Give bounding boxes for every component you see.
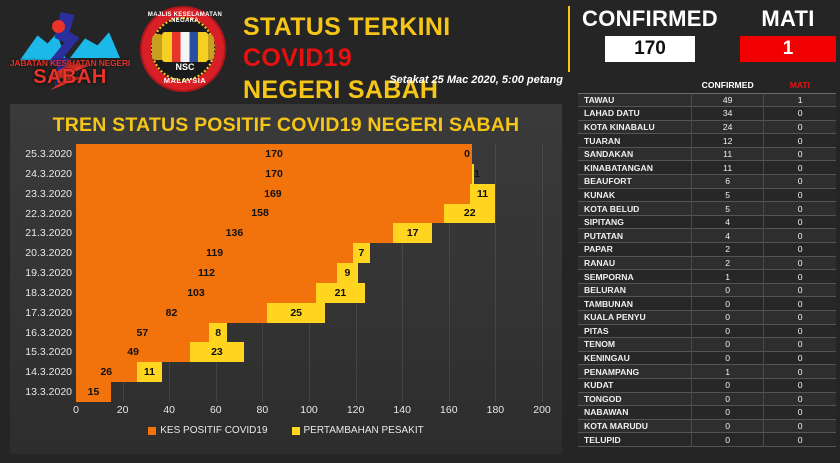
head-dot-icon xyxy=(52,20,65,33)
bar-segment-positive: 103 xyxy=(76,283,316,303)
confirmed-count: 0 xyxy=(692,297,764,311)
district-name: LAHAD DATU xyxy=(578,107,692,121)
table-row: KUNAK50 xyxy=(578,188,836,202)
district-name: NABAWAN xyxy=(578,406,692,420)
mati-count: 0 xyxy=(764,324,836,338)
district-name: KUNAK xyxy=(578,188,692,202)
chart-bar-row: 1701 xyxy=(76,164,542,184)
confirmed-count: 0 xyxy=(692,351,764,365)
chart-bar-row: 15 xyxy=(76,382,542,402)
bar-value-label: 0 xyxy=(464,148,470,160)
bar-value-label: 1 xyxy=(474,168,480,180)
bar-value-label: 17 xyxy=(407,227,419,239)
table-row: TONGOD00 xyxy=(578,392,836,406)
malaysia-crest-icon xyxy=(162,32,208,62)
chart-title: TREN STATUS POSITIF COVID19 NEGERI SABAH xyxy=(10,114,562,137)
mkn-logo-center-text: NSC xyxy=(142,62,228,72)
table-header-mati: MATI xyxy=(764,78,836,93)
confirmed-count: 5 xyxy=(692,202,764,216)
district-name: TELUPID xyxy=(578,433,692,447)
bar-value-label: 82 xyxy=(166,307,178,319)
bar-value-label: 23 xyxy=(211,346,223,358)
district-name: KOTA MARUDU xyxy=(578,419,692,433)
bar-segment-positive: 26 xyxy=(76,362,137,382)
mati-count: 0 xyxy=(764,419,836,433)
chart-bar-row: 1197 xyxy=(76,243,542,263)
chart-y-label: 13.3.2020 xyxy=(14,386,72,398)
chart-bar-row: 16911 xyxy=(76,184,542,204)
table-row: KOTA BELUD50 xyxy=(578,202,836,216)
confirmed-count: 0 xyxy=(692,324,764,338)
mountain-icon-2 xyxy=(70,30,120,58)
chart-x-tick: 160 xyxy=(440,404,458,416)
chart-x-tick: 100 xyxy=(300,404,318,416)
chart-x-tick: 200 xyxy=(533,404,551,416)
chart-y-label: 24.3.2020 xyxy=(14,168,72,180)
chart-x-tick: 140 xyxy=(393,404,411,416)
bar-segment-increase: 21 xyxy=(316,283,365,303)
district-name: KUDAT xyxy=(578,378,692,392)
district-name: PENAMPANG xyxy=(578,365,692,379)
confirmed-count: 6 xyxy=(692,175,764,189)
confirmed-count: 34 xyxy=(692,107,764,121)
confirmed-count: 0 xyxy=(692,283,764,297)
jkns-logo-line2: SABAH xyxy=(8,66,132,89)
chart-x-tick: 180 xyxy=(487,404,505,416)
table-row: KUALA PENYU00 xyxy=(578,311,836,325)
bar-segment-positive: 15 xyxy=(76,382,111,402)
bar-value-label: 136 xyxy=(226,227,244,239)
chart-y-label: 17.3.2020 xyxy=(14,307,72,319)
confirmed-count: 0 xyxy=(692,392,764,406)
stat-mati-label: MATI xyxy=(740,6,836,32)
table-row: LAHAD DATU340 xyxy=(578,107,836,121)
mati-count: 0 xyxy=(764,378,836,392)
bar-segment-increase: 11 xyxy=(137,362,163,382)
table-row: TENOM00 xyxy=(578,338,836,352)
mkn-logo-arc-text: MAJLIS KESELAMATAN NEGARA xyxy=(142,12,228,24)
table-row: KINABATANGAN110 xyxy=(578,161,836,175)
table-row: PUTATAN40 xyxy=(578,229,836,243)
mati-count: 0 xyxy=(764,365,836,379)
title-line1-red: COVID19 xyxy=(243,44,352,72)
legend-label: PERTAMBAHAN PESAKIT xyxy=(304,425,424,436)
bar-segment-positive: 169 xyxy=(76,184,470,204)
table-row: PAPAR20 xyxy=(578,243,836,257)
chart-bar-row: 15822 xyxy=(76,204,542,224)
mati-count: 0 xyxy=(764,188,836,202)
mati-count: 0 xyxy=(764,433,836,447)
confirmed-count: 4 xyxy=(692,215,764,229)
bar-segment-positive: 49 xyxy=(76,342,190,362)
table-row: NABAWAN00 xyxy=(578,406,836,420)
bar-value-label: 15 xyxy=(88,386,100,398)
bar-value-label: 11 xyxy=(144,366,155,378)
bar-value-label: 103 xyxy=(187,287,205,299)
confirmed-count: 0 xyxy=(692,338,764,352)
as-of-date: Setakat 25 Mac 2020, 5:00 petang xyxy=(243,74,563,86)
legend-item[interactable]: PERTAMBAHAN PESAKIT xyxy=(292,425,424,436)
mati-count: 0 xyxy=(764,107,836,121)
bar-segment-positive: 170 xyxy=(76,164,472,184)
confirmed-count: 12 xyxy=(692,134,764,148)
chart-y-label: 14.3.2020 xyxy=(14,366,72,378)
table-row: KOTA MARUDU00 xyxy=(578,419,836,433)
table-row: TUARAN120 xyxy=(578,134,836,148)
district-name: KENINGAU xyxy=(578,351,692,365)
district-name: SANDAKAN xyxy=(578,147,692,161)
mati-count: 0 xyxy=(764,202,836,216)
table-header-confirmed: CONFIRMED xyxy=(692,78,764,93)
legend-swatch-icon xyxy=(148,427,156,435)
chart-bar-row: 13617 xyxy=(76,223,542,243)
chart-y-label: 15.3.2020 xyxy=(14,346,72,358)
table-row: RANAU20 xyxy=(578,256,836,270)
mati-count: 0 xyxy=(764,256,836,270)
district-name: TUARAN xyxy=(578,134,692,148)
district-name: KINABATANGAN xyxy=(578,161,692,175)
bar-segment-increase: 8 xyxy=(209,323,228,343)
bar-value-label: 8 xyxy=(215,327,221,339)
bar-segment-positive: 82 xyxy=(76,303,267,323)
chart-x-tick: 0 xyxy=(73,404,79,416)
mati-count: 0 xyxy=(764,297,836,311)
bar-segment-increase: 17 xyxy=(393,223,433,243)
district-name: TONGOD xyxy=(578,392,692,406)
table-row: SIPITANG40 xyxy=(578,215,836,229)
bar-value-label: 112 xyxy=(198,267,215,279)
district-name: KOTA BELUD xyxy=(578,202,692,216)
district-name: RANAU xyxy=(578,256,692,270)
bar-segment-increase: 0 xyxy=(462,144,472,164)
bar-value-label: 158 xyxy=(251,207,269,219)
bar-value-label: 49 xyxy=(127,346,139,358)
table-row: TELUPID00 xyxy=(578,433,836,447)
chart-bar-row: 1700 xyxy=(76,144,542,164)
legend-label: KES POSITIF COVID19 xyxy=(160,425,267,436)
stat-confirmed: CONFIRMED 170 xyxy=(575,6,725,62)
mati-count: 0 xyxy=(764,120,836,134)
district-name: PUTATAN xyxy=(578,229,692,243)
chart-y-label: 16.3.2020 xyxy=(14,327,72,339)
bar-value-label: 21 xyxy=(335,287,347,299)
chart-gridline xyxy=(542,144,543,402)
confirmed-count: 24 xyxy=(692,120,764,134)
mati-count: 0 xyxy=(764,215,836,229)
confirmed-count: 0 xyxy=(692,419,764,433)
table-row: KENINGAU00 xyxy=(578,351,836,365)
stat-mati-value: 1 xyxy=(740,36,836,62)
bar-segment-increase: 9 xyxy=(337,263,358,283)
district-name: TAWAU xyxy=(578,93,692,107)
bar-value-label: 170 xyxy=(265,148,283,160)
bar-value-label: 57 xyxy=(137,327,149,339)
bar-segment-positive: 119 xyxy=(76,243,353,263)
mati-count: 0 xyxy=(764,283,836,297)
trend-chart-panel: TREN STATUS POSITIF COVID19 NEGERI SABAH… xyxy=(10,104,562,454)
chart-y-label: 18.3.2020 xyxy=(14,287,72,299)
table-row: SEMPORNA10 xyxy=(578,270,836,284)
mati-count: 0 xyxy=(764,351,836,365)
table-header-district xyxy=(578,78,692,93)
bar-segment-increase: 11 xyxy=(470,184,496,204)
chart-bar-row: 1129 xyxy=(76,263,542,283)
stat-confirmed-label: CONFIRMED xyxy=(575,6,725,32)
header-divider xyxy=(568,6,570,72)
mati-count: 0 xyxy=(764,406,836,420)
confirmed-count: 11 xyxy=(692,161,764,175)
bar-segment-increase: 25 xyxy=(267,303,325,323)
chart-bar-row: 8225 xyxy=(76,303,542,323)
mati-count: 0 xyxy=(764,392,836,406)
bar-segment-increase: 22 xyxy=(444,204,495,224)
bar-value-label: 7 xyxy=(358,247,364,259)
bar-segment-positive: 57 xyxy=(76,323,209,343)
mati-count: 0 xyxy=(764,161,836,175)
table-row: KUDAT00 xyxy=(578,378,836,392)
table-row: PENAMPANG10 xyxy=(578,365,836,379)
chart-y-label: 22.3.2020 xyxy=(14,208,72,220)
stat-mati: MATI 1 xyxy=(740,6,836,62)
bar-value-label: 119 xyxy=(206,247,223,259)
district-case-table: CONFIRMED MATI TAWAU491LAHAD DATU340KOTA… xyxy=(578,78,836,460)
district-name: KUALA PENYU xyxy=(578,311,692,325)
bar-value-label: 11 xyxy=(477,188,488,200)
bar-value-label: 9 xyxy=(345,267,351,279)
chart-y-label: 23.3.2020 xyxy=(14,188,72,200)
chart-y-label: 21.3.2020 xyxy=(14,227,72,239)
district-name: SIPITANG xyxy=(578,215,692,229)
mati-count: 0 xyxy=(764,243,836,257)
bar-segment-increase: 7 xyxy=(353,243,369,263)
jkns-logo: JABATAN KESIHATAN NEGERI SABAH xyxy=(8,8,132,92)
chart-bar-row: 578 xyxy=(76,323,542,343)
bar-segment-increase: 1 xyxy=(472,164,474,184)
bar-segment-increase: 23 xyxy=(190,342,244,362)
confirmed-count: 5 xyxy=(692,188,764,202)
table-row: PITAS00 xyxy=(578,324,836,338)
mati-count: 1 xyxy=(764,93,836,107)
chart-x-tick: 120 xyxy=(347,404,365,416)
mati-count: 0 xyxy=(764,338,836,352)
confirmed-count: 0 xyxy=(692,311,764,325)
chart-bar-row: 4923 xyxy=(76,342,542,362)
bar-value-label: 170 xyxy=(265,168,283,180)
mati-count: 0 xyxy=(764,229,836,243)
bar-segment-positive: 112 xyxy=(76,263,337,283)
district-name: SEMPORNA xyxy=(578,270,692,284)
confirmed-count: 0 xyxy=(692,433,764,447)
district-name: BEAUFORT xyxy=(578,175,692,189)
district-name: PAPAR xyxy=(578,243,692,257)
district-name: KOTA KINABALU xyxy=(578,120,692,134)
bar-value-label: 25 xyxy=(290,307,302,319)
chart-y-label: 19.3.2020 xyxy=(14,267,72,279)
chart-y-label: 20.3.2020 xyxy=(14,247,72,259)
bar-value-label: 22 xyxy=(464,207,476,219)
chart-plot-area: 25.3.2020170024.3.2020170123.3.202016911… xyxy=(76,144,542,402)
bar-segment-positive: 170 xyxy=(76,144,472,164)
confirmed-count: 0 xyxy=(692,378,764,392)
mati-count: 0 xyxy=(764,147,836,161)
table-header-row: CONFIRMED MATI xyxy=(578,78,836,93)
legend-item[interactable]: KES POSITIF COVID19 xyxy=(148,425,267,436)
chart-bar-row: 10321 xyxy=(76,283,542,303)
district-name: TENOM xyxy=(578,338,692,352)
mkn-logo-bottom-text: MALAYSIA xyxy=(142,76,228,85)
bar-value-label: 169 xyxy=(264,188,282,200)
chart-x-axis: 020406080100120140160180200 xyxy=(76,404,542,420)
table-row: SANDAKAN110 xyxy=(578,147,836,161)
district-name: TAMBUNAN xyxy=(578,297,692,311)
district-name: PITAS xyxy=(578,324,692,338)
confirmed-count: 4 xyxy=(692,229,764,243)
confirmed-count: 0 xyxy=(692,406,764,420)
confirmed-count: 1 xyxy=(692,365,764,379)
table-row: KOTA KINABALU240 xyxy=(578,120,836,134)
page-title: STATUS TERKINI COVID19 NEGERI SABAH xyxy=(243,12,563,106)
district-name: BELURAN xyxy=(578,283,692,297)
mati-count: 0 xyxy=(764,311,836,325)
chart-legend: KES POSITIF COVID19PERTAMBAHAN PESAKIT xyxy=(10,422,562,440)
stat-confirmed-value: 170 xyxy=(605,36,695,62)
chart-x-tick: 40 xyxy=(163,404,175,416)
confirmed-count: 2 xyxy=(692,243,764,257)
table-row: TAMBUNAN00 xyxy=(578,297,836,311)
confirmed-count: 2 xyxy=(692,256,764,270)
mkn-nsc-logo: MAJLIS KESELAMATAN NEGARA NSC MALAYSIA xyxy=(140,6,226,92)
confirmed-count: 1 xyxy=(692,270,764,284)
mati-count: 0 xyxy=(764,175,836,189)
chart-x-tick: 60 xyxy=(210,404,222,416)
chart-x-tick: 20 xyxy=(117,404,129,416)
bar-value-label: 26 xyxy=(100,366,112,378)
table-row: BELURAN00 xyxy=(578,283,836,297)
mati-count: 0 xyxy=(764,270,836,284)
confirmed-count: 49 xyxy=(692,93,764,107)
confirmed-count: 11 xyxy=(692,147,764,161)
bar-segment-positive: 158 xyxy=(76,204,444,224)
chart-x-tick: 80 xyxy=(257,404,269,416)
title-line1-yellow: STATUS TERKINI xyxy=(243,13,450,41)
chart-y-label: 25.3.2020 xyxy=(14,148,72,160)
chart-bar-row: 2611 xyxy=(76,362,542,382)
table-row: BEAUFORT60 xyxy=(578,175,836,189)
legend-swatch-icon xyxy=(292,427,300,435)
bar-segment-positive: 136 xyxy=(76,223,393,243)
table-row: TAWAU491 xyxy=(578,93,836,107)
mati-count: 0 xyxy=(764,134,836,148)
